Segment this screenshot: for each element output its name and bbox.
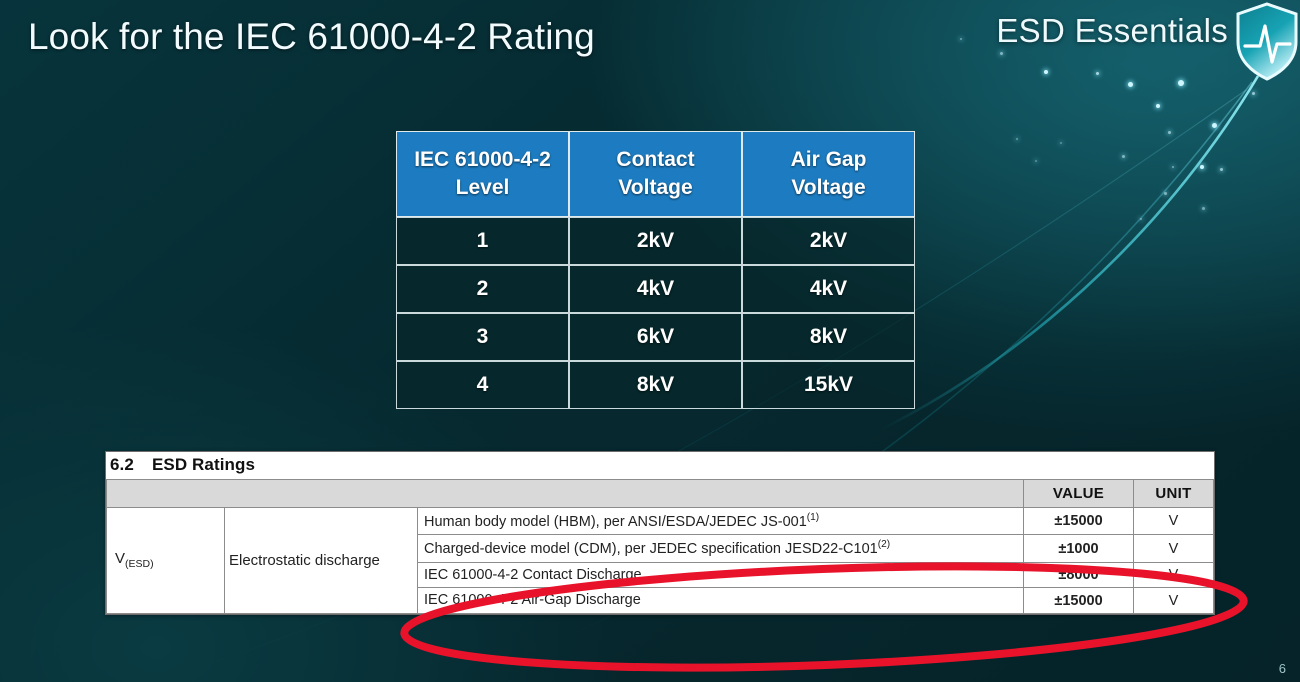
symbol-subscript: (ESD) bbox=[125, 558, 154, 570]
footnote-marker: (2) bbox=[878, 539, 890, 550]
symbol-main: V bbox=[115, 550, 125, 567]
cell-air-gap-voltage: 8kV bbox=[742, 313, 915, 361]
brand-block: ESD Essentials bbox=[996, 8, 1300, 82]
cell-value: ±15000 bbox=[1024, 588, 1134, 614]
cell-air-gap-voltage: 15kV bbox=[742, 361, 915, 409]
cell-contact-voltage: 8kV bbox=[569, 361, 742, 409]
column-header-level: IEC 61000-4-2 Level bbox=[396, 131, 569, 217]
table-row: 4 8kV 15kV bbox=[396, 361, 915, 409]
cell-description: Charged-device model (CDM), per JEDEC sp… bbox=[418, 535, 1024, 562]
cell-parameter: Electrostatic discharge bbox=[225, 508, 418, 614]
datasheet-header-row: VALUE UNIT bbox=[107, 480, 1214, 508]
iec-level-table: IEC 61000-4-2 Level Contact Voltage Air … bbox=[396, 131, 915, 409]
cell-description: IEC 61000-4-2 Air-Gap Discharge bbox=[418, 588, 1024, 614]
cell-contact-voltage: 2kV bbox=[569, 217, 742, 265]
footnote-marker: (1) bbox=[807, 512, 819, 523]
cell-level: 2 bbox=[396, 265, 569, 313]
cell-contact-voltage: 4kV bbox=[569, 265, 742, 313]
column-header-value: VALUE bbox=[1024, 480, 1134, 508]
table-row: 1 2kV 2kV bbox=[396, 217, 915, 265]
cell-unit: V bbox=[1134, 562, 1214, 588]
table-header-row: IEC 61000-4-2 Level Contact Voltage Air … bbox=[396, 131, 915, 217]
cell-contact-voltage: 6kV bbox=[569, 313, 742, 361]
column-header-unit: UNIT bbox=[1134, 480, 1214, 508]
datasheet-excerpt: 6.2 ESD Ratings VALUE UNIT V(ESD) Electr… bbox=[105, 451, 1215, 615]
table-row: 2 4kV 4kV bbox=[396, 265, 915, 313]
table-row: 3 6kV 8kV bbox=[396, 313, 915, 361]
cell-level: 4 bbox=[396, 361, 569, 409]
cell-value: ±15000 bbox=[1024, 508, 1134, 535]
section-number: 6.2 bbox=[110, 455, 134, 475]
description-text: Charged-device model (CDM), per JEDEC sp… bbox=[424, 541, 878, 557]
cell-unit: V bbox=[1134, 508, 1214, 535]
brand-label: ESD Essentials bbox=[996, 8, 1228, 50]
page-title: Look for the IEC 61000-4-2 Rating bbox=[28, 16, 595, 58]
section-title: ESD Ratings bbox=[152, 455, 255, 475]
esd-ratings-table: VALUE UNIT V(ESD) Electrostatic discharg… bbox=[106, 479, 1214, 614]
shield-heartbeat-icon bbox=[1234, 2, 1300, 82]
cell-air-gap-voltage: 2kV bbox=[742, 217, 915, 265]
datasheet-section-heading: 6.2 ESD Ratings bbox=[106, 452, 1214, 479]
cell-value: ±8000 bbox=[1024, 562, 1134, 588]
cell-unit: V bbox=[1134, 588, 1214, 614]
column-header-blank bbox=[107, 480, 1024, 508]
cell-symbol: V(ESD) bbox=[107, 508, 225, 614]
cell-description: IEC 61000-4-2 Contact Discharge bbox=[418, 562, 1024, 588]
description-text: Human body model (HBM), per ANSI/ESDA/JE… bbox=[424, 514, 807, 530]
cell-level: 3 bbox=[396, 313, 569, 361]
cell-level: 1 bbox=[396, 217, 569, 265]
cell-description: Human body model (HBM), per ANSI/ESDA/JE… bbox=[418, 508, 1024, 535]
page-number: 6 bbox=[1279, 661, 1286, 676]
column-header-contact-voltage: Contact Voltage bbox=[569, 131, 742, 217]
column-header-air-gap-voltage: Air Gap Voltage bbox=[742, 131, 915, 217]
cell-value: ±1000 bbox=[1024, 535, 1134, 562]
cell-unit: V bbox=[1134, 535, 1214, 562]
cell-air-gap-voltage: 4kV bbox=[742, 265, 915, 313]
table-row: V(ESD) Electrostatic discharge Human bod… bbox=[107, 508, 1214, 535]
